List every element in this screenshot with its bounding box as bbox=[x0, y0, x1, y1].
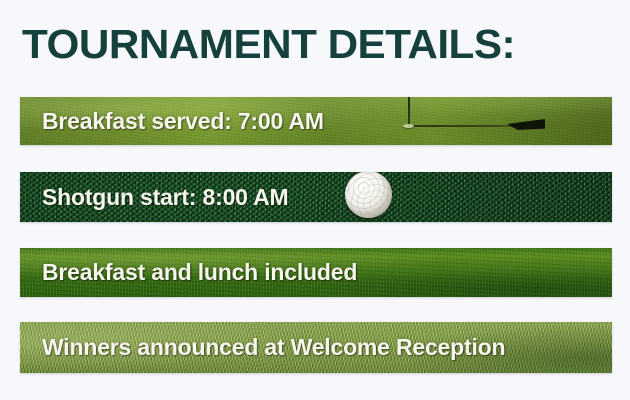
golf-ball-icon bbox=[345, 172, 392, 218]
detail-banner-label: Shotgun start: 8:00 AM bbox=[20, 184, 288, 211]
flagstick-icon bbox=[408, 97, 410, 127]
detail-banner-shotgun-start: Shotgun start: 8:00 AM bbox=[20, 172, 612, 222]
tournament-details-slide: TOURNAMENT DETAILS: Breakfast served: 7:… bbox=[0, 0, 630, 400]
detail-banner-label: Winners announced at Welcome Reception bbox=[20, 334, 505, 361]
detail-banner-label: Breakfast and lunch included bbox=[20, 259, 357, 286]
detail-banner-winners-announced: Winners announced at Welcome Reception bbox=[20, 322, 612, 373]
hole-cup-icon bbox=[403, 124, 414, 128]
detail-banner-meals-included: Breakfast and lunch included bbox=[20, 248, 612, 297]
detail-banner-breakfast-served: Breakfast served: 7:00 AM bbox=[20, 97, 612, 145]
page-title: TOURNAMENT DETAILS: bbox=[22, 18, 515, 70]
detail-banner-label: Breakfast served: 7:00 AM bbox=[20, 108, 324, 135]
